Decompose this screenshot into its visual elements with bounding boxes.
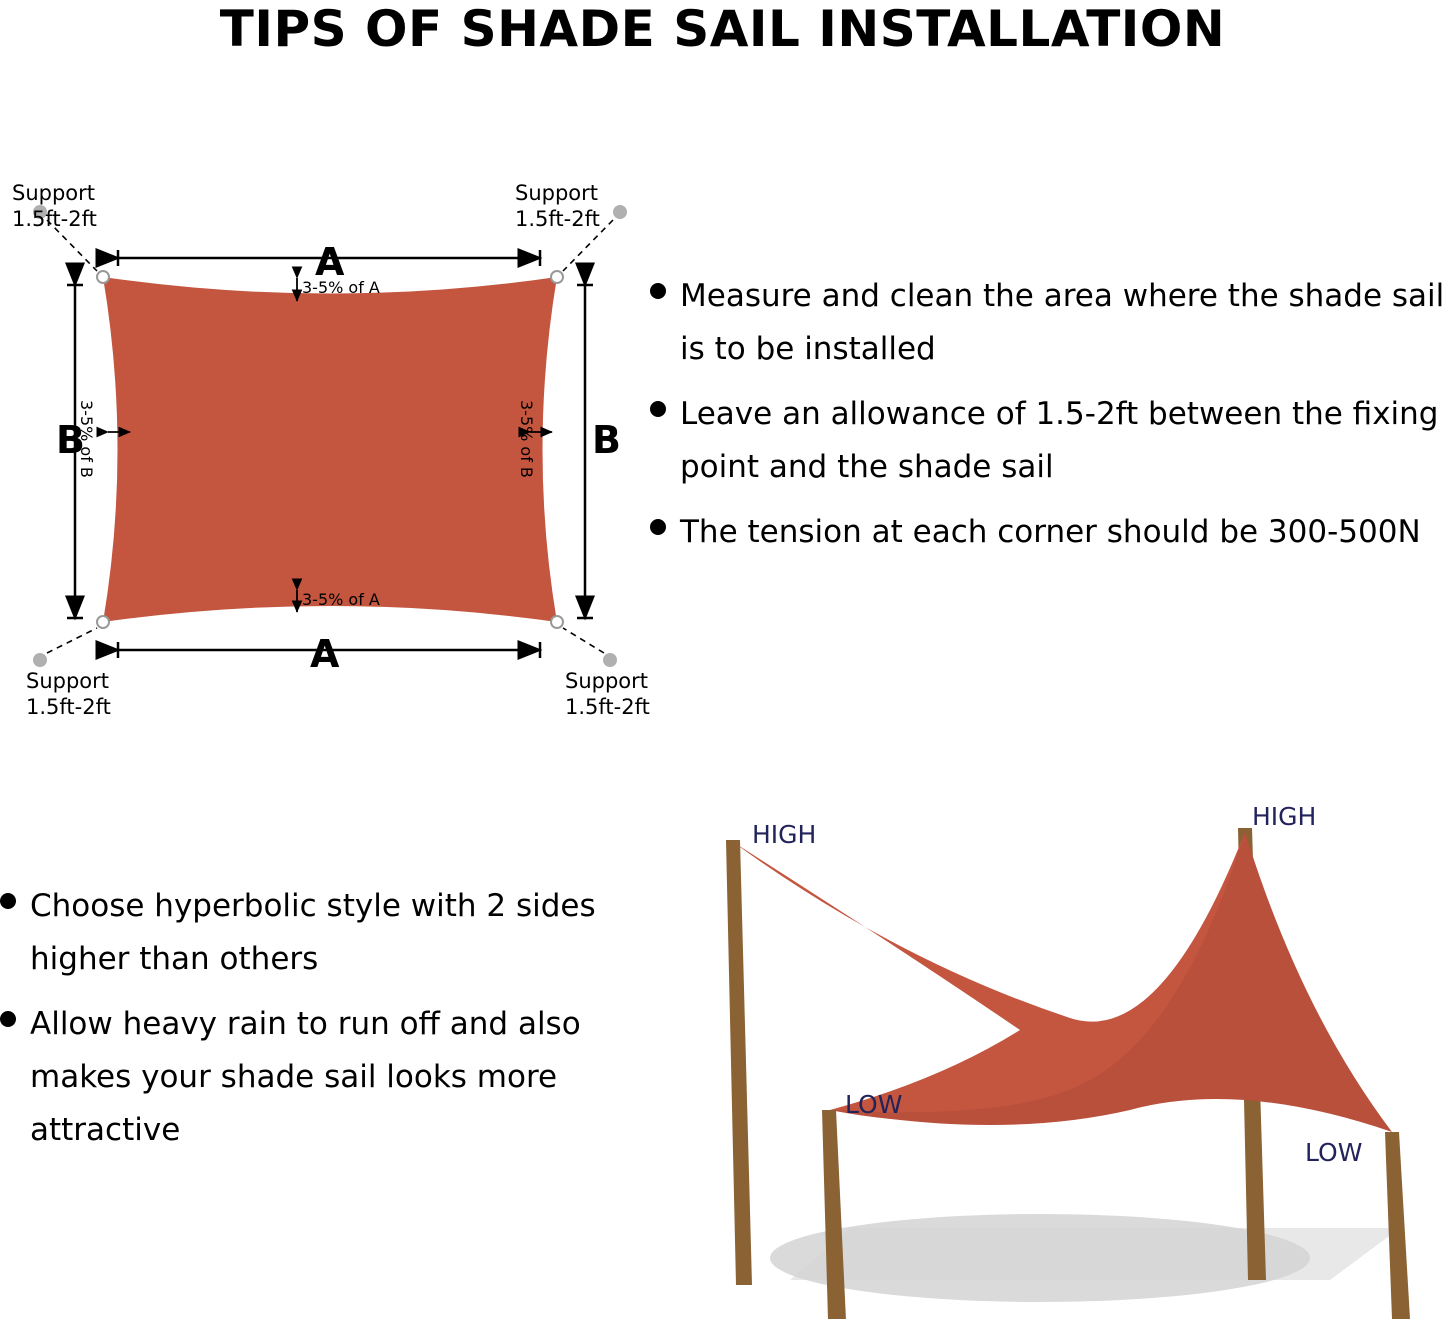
sail-shape (103, 277, 557, 622)
list-item-text: The tension at each corner should be 300… (680, 506, 1421, 559)
ground-shadow-2 (790, 1228, 1400, 1280)
support-label-top-right: Support 1.5ft-2ft (515, 180, 600, 232)
support-label-top-left: Support 1.5ft-2ft (12, 180, 97, 232)
support-label-line2: 1.5ft-2ft (515, 206, 600, 232)
label-sag-right: 3-5% of B (517, 400, 536, 478)
rectangular-sail-diagram: A A B B 3-5% of A 3-5% of A 3-5% of B 3-… (0, 160, 660, 730)
list-item: Leave an allowance of 1.5-2ft between th… (650, 388, 1445, 494)
support-point-dot (613, 205, 627, 219)
support-point-dot (33, 653, 47, 667)
list-item: Measure and clean the area where the sha… (650, 270, 1445, 376)
support-label-line2: 1.5ft-2ft (565, 694, 650, 720)
post-low-right (1385, 1132, 1410, 1319)
hyperbolic-sail-diagram: HIGH HIGH LOW LOW (640, 780, 1445, 1319)
support-label-line1: Support (12, 180, 97, 206)
corner-ring (97, 271, 109, 283)
support-label-line1: Support (565, 668, 650, 694)
bullet-dot-icon (0, 893, 16, 909)
bullet-dot-icon (650, 401, 666, 417)
post-low-left (822, 1110, 846, 1319)
label-low-left: LOW (845, 1090, 902, 1119)
bullet-dot-icon (650, 519, 666, 535)
list-item-text: Choose hyperbolic style with 2 sides hig… (30, 880, 640, 986)
list-item-text: Allow heavy rain to run off and also mak… (30, 998, 640, 1157)
tips-list-right: Measure and clean the area where the sha… (650, 270, 1445, 571)
label-sag-top: 3-5% of A (302, 278, 380, 297)
list-item-text: Leave an allowance of 1.5-2ft between th… (680, 388, 1445, 494)
support-label-line1: Support (515, 180, 600, 206)
list-item-text: Measure and clean the area where the sha… (680, 270, 1445, 376)
label-sag-bottom: 3-5% of A (302, 590, 380, 609)
support-lead (563, 628, 604, 653)
support-label-line1: Support (26, 668, 111, 694)
support-label-line2: 1.5ft-2ft (12, 206, 97, 232)
support-label-line2: 1.5ft-2ft (26, 694, 111, 720)
label-sag-left: 3-5% of B (77, 400, 96, 478)
corner-ring (97, 616, 109, 628)
corner-ring (551, 271, 563, 283)
label-low-right: LOW (1305, 1138, 1362, 1167)
list-item: The tension at each corner should be 300… (650, 506, 1445, 559)
label-high-right: HIGH (1252, 802, 1316, 831)
list-item: Choose hyperbolic style with 2 sides hig… (0, 880, 640, 986)
label-high-left: HIGH (752, 820, 816, 849)
list-item: Allow heavy rain to run off and also mak… (0, 998, 640, 1157)
support-point-dot (603, 653, 617, 667)
bullet-dot-icon (0, 1011, 16, 1027)
label-b-right: B (592, 418, 621, 462)
support-label-bottom-right: Support 1.5ft-2ft (565, 668, 650, 720)
support-lead (47, 628, 97, 653)
support-label-bottom-left: Support 1.5ft-2ft (26, 668, 111, 720)
label-a-bottom: A (310, 632, 339, 676)
bullet-dot-icon (650, 283, 666, 299)
page-title: TIPS OF SHADE SAIL INSTALLATION (0, 0, 1445, 58)
corner-ring (551, 616, 563, 628)
post-high-left (726, 840, 752, 1285)
tips-list-left: Choose hyperbolic style with 2 sides hig… (0, 880, 640, 1169)
